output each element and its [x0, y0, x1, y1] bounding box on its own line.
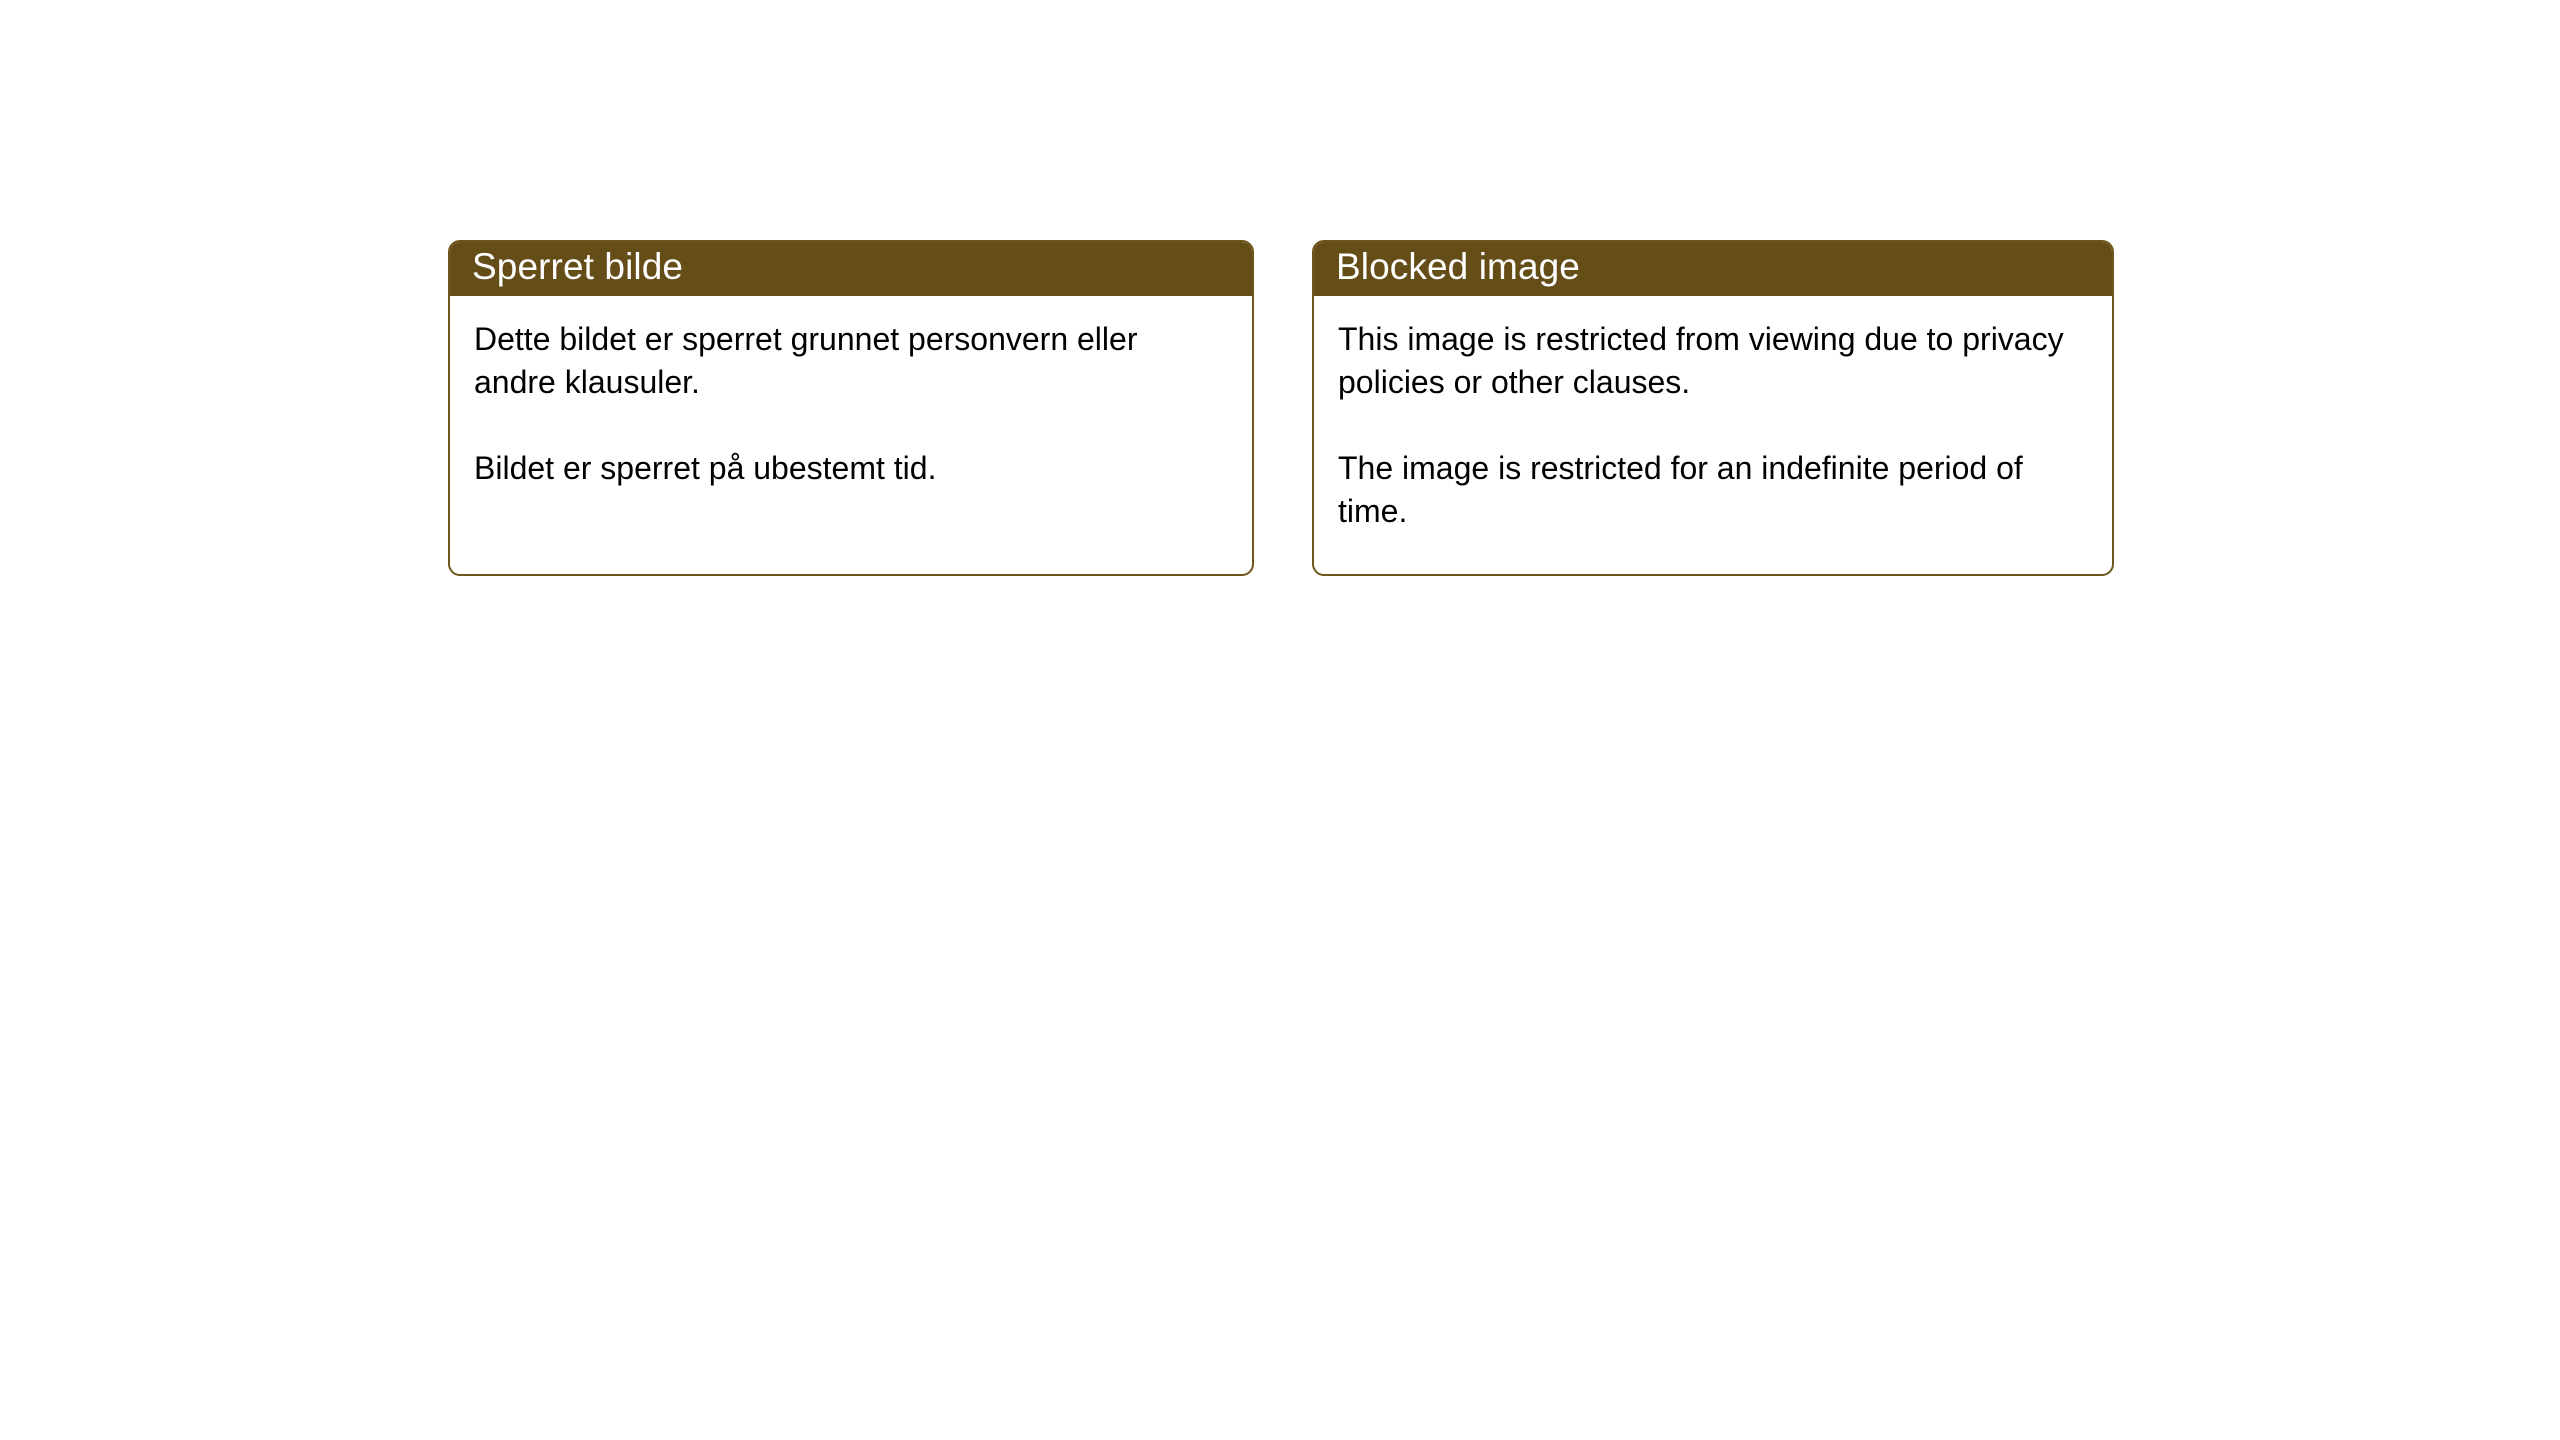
card-paragraph-english-1: This image is restricted from viewing du…	[1338, 318, 2086, 404]
blocked-image-card-norwegian: Sperret bilde Dette bildet er sperret gr…	[448, 240, 1254, 576]
card-body-english: This image is restricted from viewing du…	[1314, 296, 2112, 533]
blocked-image-card-english: Blocked image This image is restricted f…	[1312, 240, 2114, 576]
card-header-english: Blocked image	[1312, 240, 2114, 296]
card-body-norwegian: Dette bildet er sperret grunnet personve…	[450, 296, 1252, 490]
card-paragraph-english-2: The image is restricted for an indefinit…	[1338, 447, 2086, 533]
paragraph-spacer	[1338, 404, 2086, 447]
paragraph-spacer	[474, 404, 1226, 447]
page-root: Sperret bilde Dette bildet er sperret gr…	[0, 0, 2560, 1440]
card-paragraph-norwegian-2: Bildet er sperret på ubestemt tid.	[474, 447, 1226, 490]
card-title-english: Blocked image	[1336, 248, 1580, 285]
card-header-norwegian: Sperret bilde	[448, 240, 1254, 296]
card-paragraph-norwegian-1: Dette bildet er sperret grunnet personve…	[474, 318, 1226, 404]
card-title-norwegian: Sperret bilde	[472, 248, 683, 285]
